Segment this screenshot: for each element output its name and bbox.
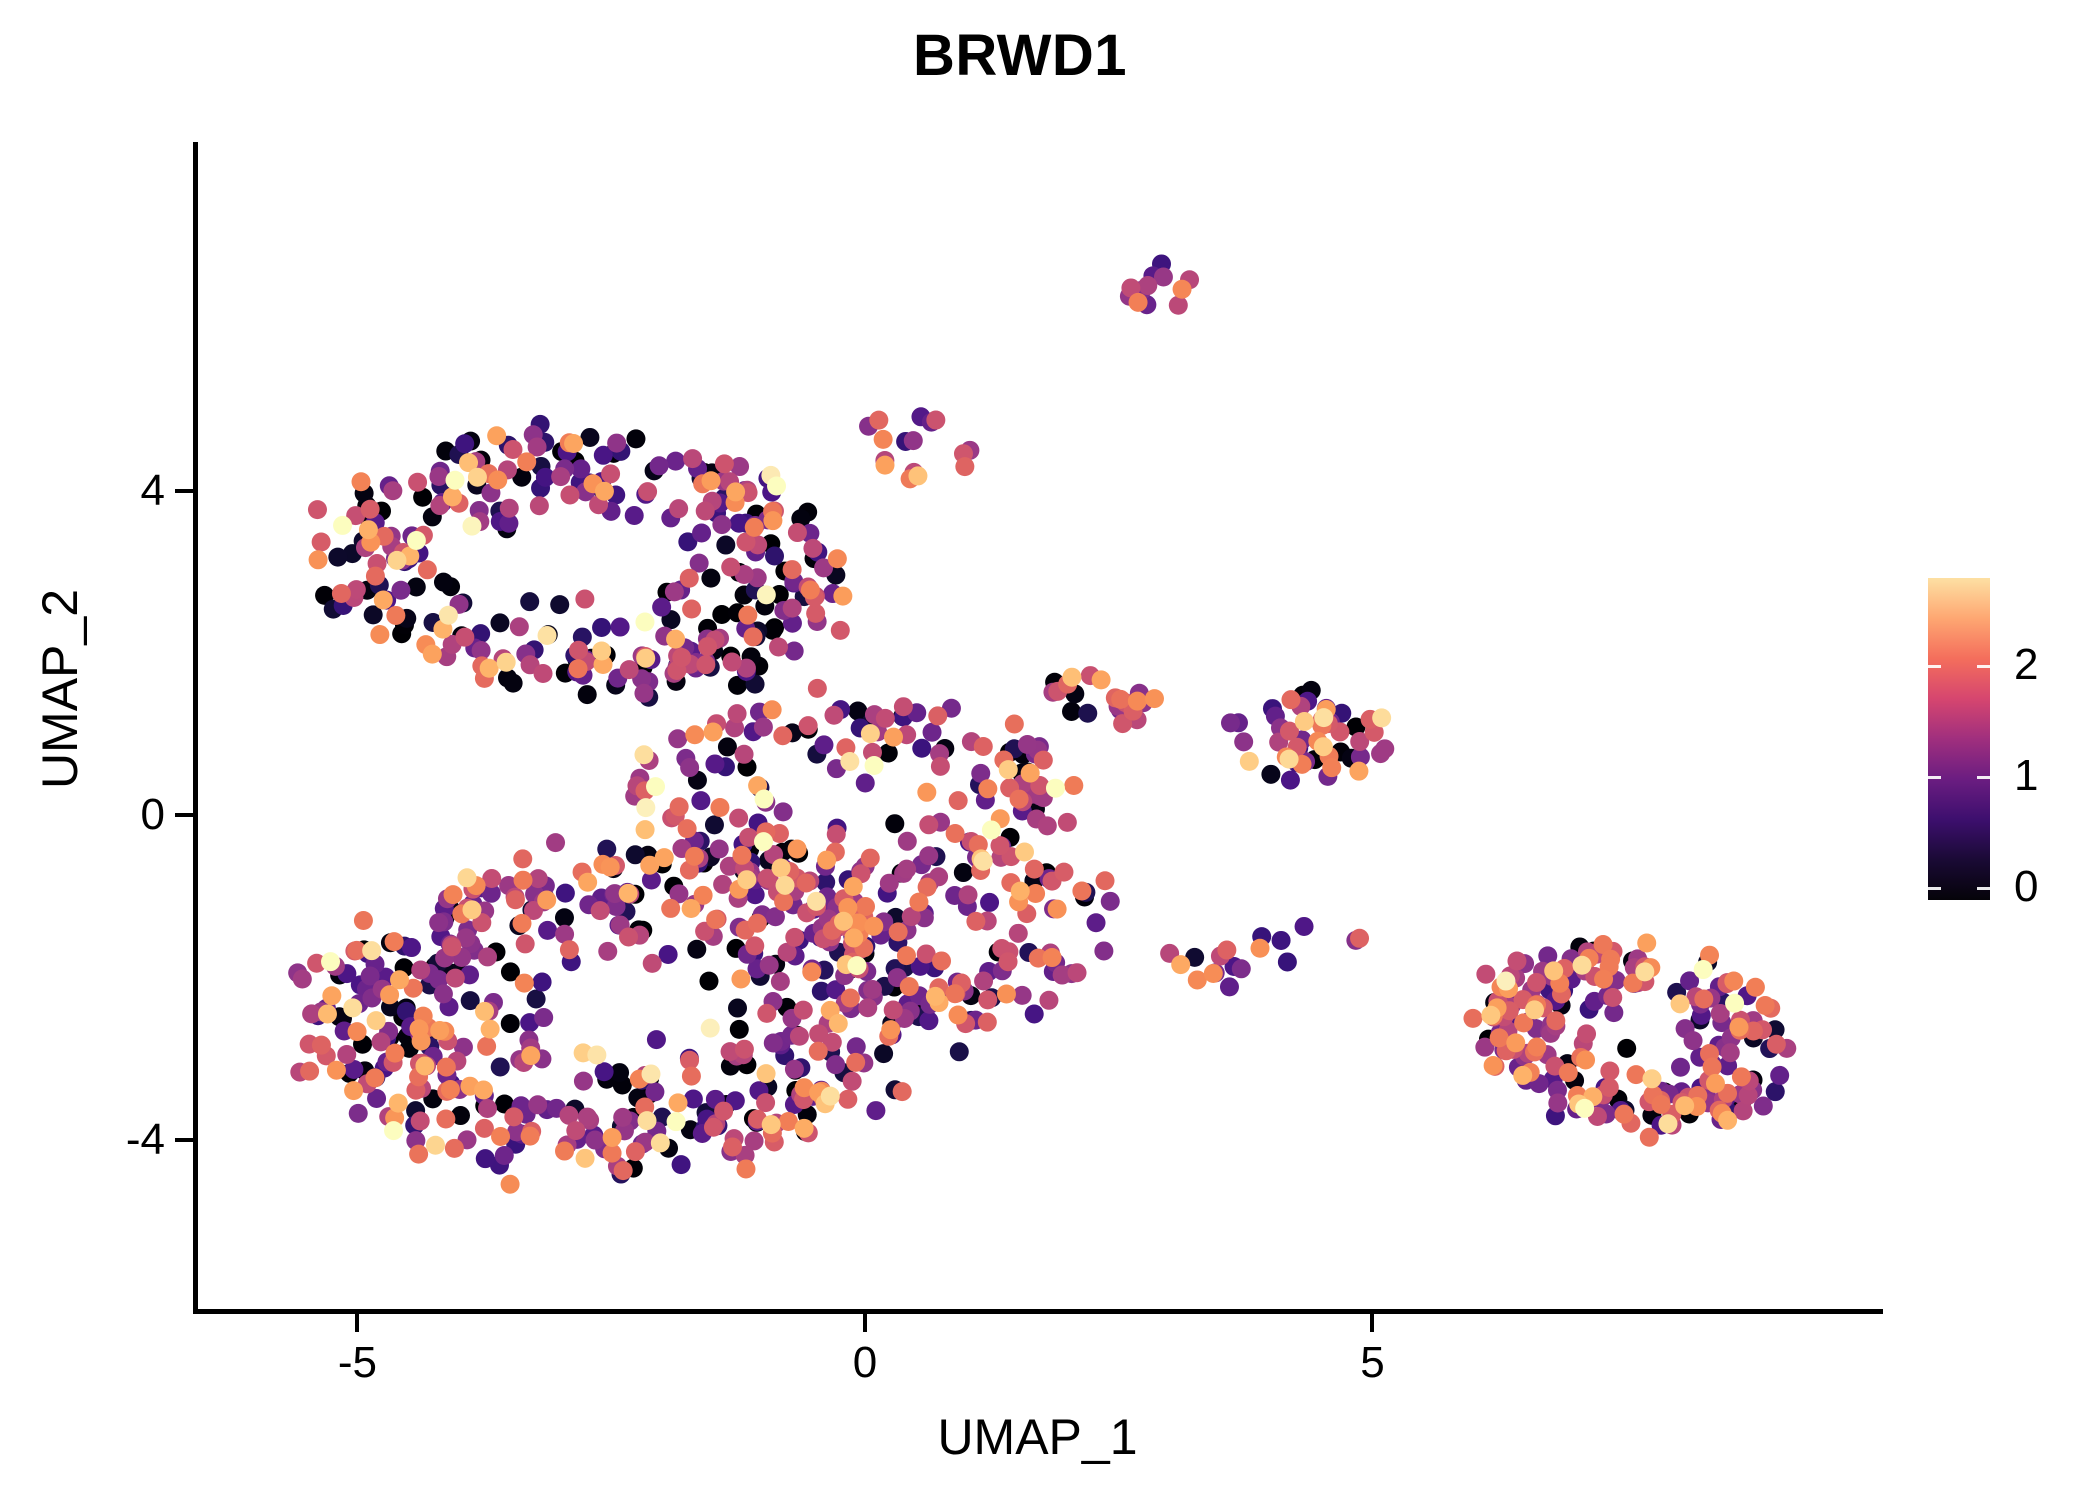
scatter-point (828, 549, 847, 568)
scatter-point (328, 548, 347, 567)
scatter-point (587, 1045, 606, 1064)
scatter-point (475, 1119, 494, 1138)
scatter-point (1169, 296, 1188, 315)
scatter-point (732, 846, 751, 865)
scatter-point (458, 868, 477, 887)
scatter-point (767, 477, 786, 496)
scatter-point (824, 706, 843, 725)
scatter-point (737, 870, 756, 889)
scatter-point (359, 520, 378, 539)
scatter-point (430, 1021, 449, 1040)
scatter-point (475, 1002, 494, 1021)
scatter-point (757, 585, 776, 604)
scatter-point (481, 1020, 500, 1039)
scatter-point (876, 456, 895, 475)
scatter-point (757, 1064, 776, 1083)
scatter-point (1039, 991, 1058, 1010)
scatter-point (344, 1081, 363, 1100)
scatter-point (555, 1142, 574, 1161)
scatter-point (555, 908, 574, 927)
scatter-point (578, 873, 597, 892)
scatter-point (569, 659, 588, 678)
scatter-point (1548, 1093, 1567, 1112)
scatter-point (1496, 972, 1515, 991)
scatter-point (728, 999, 747, 1018)
scatter-layer (195, 142, 1880, 1310)
scatter-point (831, 621, 850, 640)
scatter-point (626, 1142, 645, 1161)
scatter-point (797, 873, 816, 892)
scatter-point (955, 457, 974, 476)
scatter-point (318, 1004, 337, 1023)
scatter-point (795, 1119, 814, 1138)
scatter-point (293, 970, 312, 989)
scatter-point (410, 1019, 429, 1038)
scatter-point (1078, 704, 1097, 723)
scatter-point (978, 779, 997, 798)
scatter-point (745, 518, 764, 537)
scatter-point (352, 472, 371, 491)
scatter-point (1251, 939, 1270, 958)
scatter-point (808, 679, 827, 698)
scatter-point (856, 897, 875, 916)
scatter-point (333, 516, 352, 535)
scatter-point (705, 754, 724, 773)
scatter-point (670, 797, 689, 816)
scatter-point (1577, 1024, 1596, 1043)
scatter-point (723, 653, 742, 672)
scatter-point (672, 1155, 691, 1174)
scatter-point (668, 729, 687, 748)
scatter-point (678, 819, 697, 838)
scatter-point (1652, 1095, 1671, 1114)
scatter-point (411, 1111, 430, 1130)
scatter-point (1062, 702, 1081, 721)
scatter-point (635, 613, 654, 632)
scatter-point (408, 473, 427, 492)
scatter-point (1724, 972, 1743, 991)
scatter-point (520, 592, 539, 611)
scatter-point (607, 434, 626, 453)
scatter-point (634, 745, 653, 764)
scatter-point (908, 466, 927, 485)
scatter-point (1232, 959, 1251, 978)
scatter-point (455, 434, 474, 453)
scatter-point (1128, 692, 1147, 711)
scatter-point (729, 809, 748, 828)
scatter-point (1476, 965, 1495, 984)
scatter-point (495, 1146, 514, 1165)
scatter-point (576, 1149, 595, 1168)
scatter-point (685, 847, 704, 866)
scatter-point (443, 487, 462, 506)
scatter-point (1138, 276, 1157, 295)
scatter-point (889, 922, 908, 941)
scatter-point (763, 511, 782, 530)
scatter-point (530, 496, 549, 515)
scatter-point (1280, 750, 1299, 769)
scatter-point (580, 428, 599, 447)
scatter-point (434, 573, 453, 592)
scatter-point (731, 969, 750, 988)
scatter-point (487, 426, 506, 445)
scatter-point (794, 1001, 813, 1020)
scatter-point (696, 501, 715, 520)
scatter-point (885, 814, 904, 833)
scatter-point (1600, 1078, 1619, 1097)
scatter-point (865, 756, 884, 775)
scatter-point (844, 877, 863, 896)
scatter-point (945, 984, 964, 1003)
scatter-point (1640, 1128, 1659, 1147)
scatter-point (926, 411, 945, 430)
scatter-point (1173, 280, 1192, 299)
scatter-point (513, 914, 532, 933)
scatter-point (1546, 1011, 1565, 1030)
scatter-point (847, 956, 866, 975)
scatter-point (1281, 690, 1300, 709)
x-tick-label: 0 (853, 1338, 877, 1388)
scatter-point (982, 820, 1001, 839)
scatter-point (864, 917, 883, 936)
scatter-point (833, 587, 852, 606)
scatter-point (564, 434, 583, 453)
scatter-point (772, 859, 791, 878)
scatter-point (898, 832, 917, 851)
scatter-point (978, 1013, 997, 1032)
scatter-point (863, 980, 882, 999)
scatter-point (897, 860, 916, 879)
x-tick-label: -5 (338, 1338, 377, 1388)
scatter-point (321, 952, 340, 971)
scatter-point (1010, 790, 1029, 809)
scatter-point (455, 628, 474, 647)
x-tick-label: 5 (1360, 1338, 1384, 1388)
scatter-point (706, 910, 725, 929)
scatter-point (919, 815, 938, 834)
scatter-point (575, 590, 594, 609)
scatter-point (1261, 765, 1280, 784)
scatter-point (1732, 1067, 1751, 1086)
scatter-point (415, 1056, 434, 1075)
scatter-point (1025, 860, 1044, 879)
scatter-point (638, 482, 657, 501)
scatter-point (591, 901, 610, 920)
scatter-point (843, 1072, 862, 1091)
scatter-point (468, 468, 487, 487)
scatter-point (300, 1062, 319, 1081)
scatter-point (672, 648, 691, 667)
scatter-point (638, 1111, 657, 1130)
scatter-point (647, 1030, 666, 1049)
scatter-point (704, 722, 723, 741)
scatter-point (785, 928, 804, 947)
scatter-point (362, 941, 381, 960)
scatter-point (1729, 1018, 1748, 1037)
scatter-point (876, 709, 895, 728)
scatter-point (476, 1149, 495, 1168)
scatter-point (1527, 1038, 1546, 1057)
scatter-point (634, 684, 653, 703)
scatter-point (1603, 988, 1622, 1007)
scatter-point (538, 921, 557, 940)
scatter-point (946, 824, 965, 843)
scatter-point (385, 1044, 404, 1063)
scatter-point (1576, 1050, 1595, 1069)
scatter-point (655, 848, 674, 867)
scatter-point (669, 1093, 688, 1112)
scatter-point (1617, 1039, 1636, 1058)
scatter-point (407, 531, 426, 550)
scatter-point (974, 852, 993, 871)
scatter-point (1725, 994, 1744, 1013)
scatter-point (603, 1128, 622, 1147)
scatter-point (1637, 934, 1656, 953)
y-tick-mark (175, 489, 193, 493)
scatter-point (728, 704, 747, 723)
scatter-point (954, 863, 973, 882)
scatter-point (928, 706, 947, 725)
scatter-point (1011, 882, 1030, 901)
scatter-point (1204, 964, 1223, 983)
scatter-point (592, 618, 611, 637)
scatter-point (949, 791, 968, 810)
scatter-point (974, 737, 993, 756)
scatter-point (1322, 758, 1341, 777)
scatter-point (651, 1133, 670, 1152)
scatter-point (931, 757, 950, 776)
scatter-point (478, 1099, 497, 1118)
scatter-point (774, 892, 793, 911)
scatter-point (919, 1011, 938, 1030)
scatter-point (636, 820, 655, 839)
scatter-point (1721, 1043, 1740, 1062)
scatter-point (1675, 1096, 1694, 1115)
scatter-point (856, 773, 875, 792)
scatter-point (386, 606, 405, 625)
scatter-point (1756, 996, 1775, 1015)
scatter-point (349, 1104, 368, 1123)
scatter-point (384, 1121, 403, 1140)
scatter-point (712, 515, 731, 534)
scatter-point (1281, 771, 1300, 790)
scatter-point (884, 1001, 903, 1020)
scatter-point (696, 655, 715, 674)
page-title: BRWD1 (0, 22, 2040, 89)
scatter-point (550, 595, 569, 614)
scatter-point (999, 760, 1018, 779)
scatter-point (595, 1062, 614, 1081)
scatter-point (510, 617, 529, 636)
scatter-point (636, 649, 655, 668)
scatter-point (817, 851, 836, 870)
scatter-point (723, 1137, 742, 1156)
scatter-point (1573, 956, 1592, 975)
scatter-point (620, 660, 639, 679)
scatter-point (821, 1087, 840, 1106)
scatter-point (710, 839, 729, 858)
scatter-point (904, 431, 923, 450)
scatter-point (370, 625, 389, 644)
scatter-point (312, 532, 331, 551)
scatter-point (322, 986, 341, 1005)
scatter-point (764, 1033, 783, 1052)
scatter-point (802, 962, 821, 981)
scatter-point (1220, 977, 1239, 996)
scatter-point (560, 940, 579, 959)
y-axis-line (193, 142, 198, 1314)
scatter-point (846, 1053, 865, 1072)
scatter-point (858, 998, 877, 1017)
scatter-point (619, 884, 638, 903)
scatter-point (390, 970, 409, 989)
scatter-point (1072, 882, 1091, 901)
scatter-point (869, 411, 888, 430)
scatter-point (538, 626, 557, 645)
scatter-point (611, 618, 630, 637)
scatter-point (516, 934, 535, 953)
scatter-point (504, 674, 523, 693)
scatter-point (527, 989, 546, 1008)
scatter-point (997, 984, 1016, 1003)
scatter-point (1021, 764, 1040, 783)
scatter-point (374, 591, 393, 610)
colorbar-tick-label: 1 (2014, 751, 2038, 801)
scatter-point (411, 961, 430, 980)
scatter-point (491, 1127, 510, 1146)
scatter-point (1101, 892, 1120, 911)
scatter-point (626, 429, 645, 448)
scatter-point (701, 569, 720, 588)
scatter-point (1746, 978, 1765, 997)
scatter-point (893, 1082, 912, 1101)
scatter-point (771, 972, 790, 991)
scatter-point (613, 1108, 632, 1127)
scatter-point (716, 536, 735, 555)
scatter-point (537, 891, 556, 910)
scatter-point (343, 998, 362, 1017)
scatter-point (1145, 689, 1164, 708)
scatter-point (586, 1131, 605, 1150)
scatter-point (760, 956, 779, 975)
scatter-point (909, 893, 928, 912)
scatter-point (560, 485, 579, 504)
scatter-point (366, 567, 385, 586)
scatter-point (692, 524, 711, 543)
scatter-point (578, 685, 597, 704)
scatter-point (715, 454, 734, 473)
scatter-point (309, 550, 328, 569)
scatter-point (980, 893, 999, 912)
scatter-point (680, 569, 699, 588)
scatter-point (1221, 713, 1240, 732)
scatter-point (533, 973, 552, 992)
scatter-point (705, 815, 724, 834)
scatter-point (1048, 900, 1067, 919)
scatter-point (501, 1175, 520, 1194)
scatter-point (682, 600, 701, 619)
scatter-point (683, 449, 702, 468)
scatter-point (1064, 776, 1083, 795)
scatter-point (574, 1072, 593, 1091)
scatter-point (1038, 816, 1057, 835)
scatter-point (1314, 737, 1333, 756)
scatter-point (788, 840, 807, 859)
scatter-point (446, 969, 465, 988)
scatter-point (897, 946, 916, 965)
scatter-point (730, 1020, 749, 1039)
scatter-point (1087, 913, 1106, 932)
scatter-point (736, 1159, 755, 1178)
scatter-point (1372, 708, 1391, 727)
scatter-point (713, 875, 732, 894)
scatter-point (757, 1004, 776, 1023)
scatter-point (327, 1061, 346, 1080)
scatter-point (619, 927, 638, 946)
scatter-point (650, 456, 669, 475)
scatter-point (1706, 1074, 1725, 1093)
scatter-point (1615, 1105, 1634, 1124)
scatter-point (1506, 1033, 1525, 1052)
scatter-point (659, 945, 678, 964)
scatter-point (1703, 1058, 1722, 1077)
scatter-point (1635, 962, 1654, 981)
scatter-point (361, 500, 380, 519)
scatter-point (1694, 990, 1713, 1009)
y-tick-label: -4 (126, 1115, 165, 1165)
x-tick-mark (863, 1314, 867, 1332)
scatter-point (445, 1139, 464, 1158)
scatter-point (1671, 994, 1690, 1013)
scatter-point (534, 1008, 553, 1027)
scatter-point (515, 974, 534, 993)
scatter-point (514, 871, 533, 890)
scatter-point (1349, 762, 1368, 781)
scatter-point (932, 951, 951, 970)
x-axis-line (193, 1309, 1883, 1314)
scatter-point (762, 1115, 781, 1134)
scatter-point (919, 846, 938, 865)
scatter-point (385, 932, 404, 951)
scatter-point (534, 664, 553, 683)
scatter-point (721, 558, 740, 577)
scatter-point (844, 928, 863, 947)
scatter-point (756, 1093, 775, 1112)
scatter-point (1046, 779, 1065, 798)
scatter-point (699, 972, 718, 991)
scatter-point (423, 645, 442, 664)
scatter-point (923, 723, 942, 742)
scatter-point (809, 1024, 828, 1043)
scatter-point (367, 1011, 386, 1030)
scatter-point (506, 890, 525, 909)
scatter-point (834, 912, 853, 931)
scatter-point (1025, 1004, 1044, 1023)
scatter-point (480, 659, 499, 678)
scatter-point (1062, 668, 1081, 687)
scatter-point (436, 1110, 455, 1129)
scatter-point (814, 735, 833, 754)
scatter-point (652, 598, 671, 617)
plot-panel (195, 142, 1880, 1310)
scatter-point (642, 1064, 661, 1083)
scatter-point (665, 582, 684, 601)
umap-feature-plot: BRWD1 -505 40-4 UMAP_1 UMAP_2 210 (0, 0, 2100, 1500)
scatter-point (426, 1136, 445, 1155)
scatter-point (682, 899, 701, 918)
scatter-point (1544, 961, 1563, 980)
scatter-point (491, 1057, 510, 1076)
